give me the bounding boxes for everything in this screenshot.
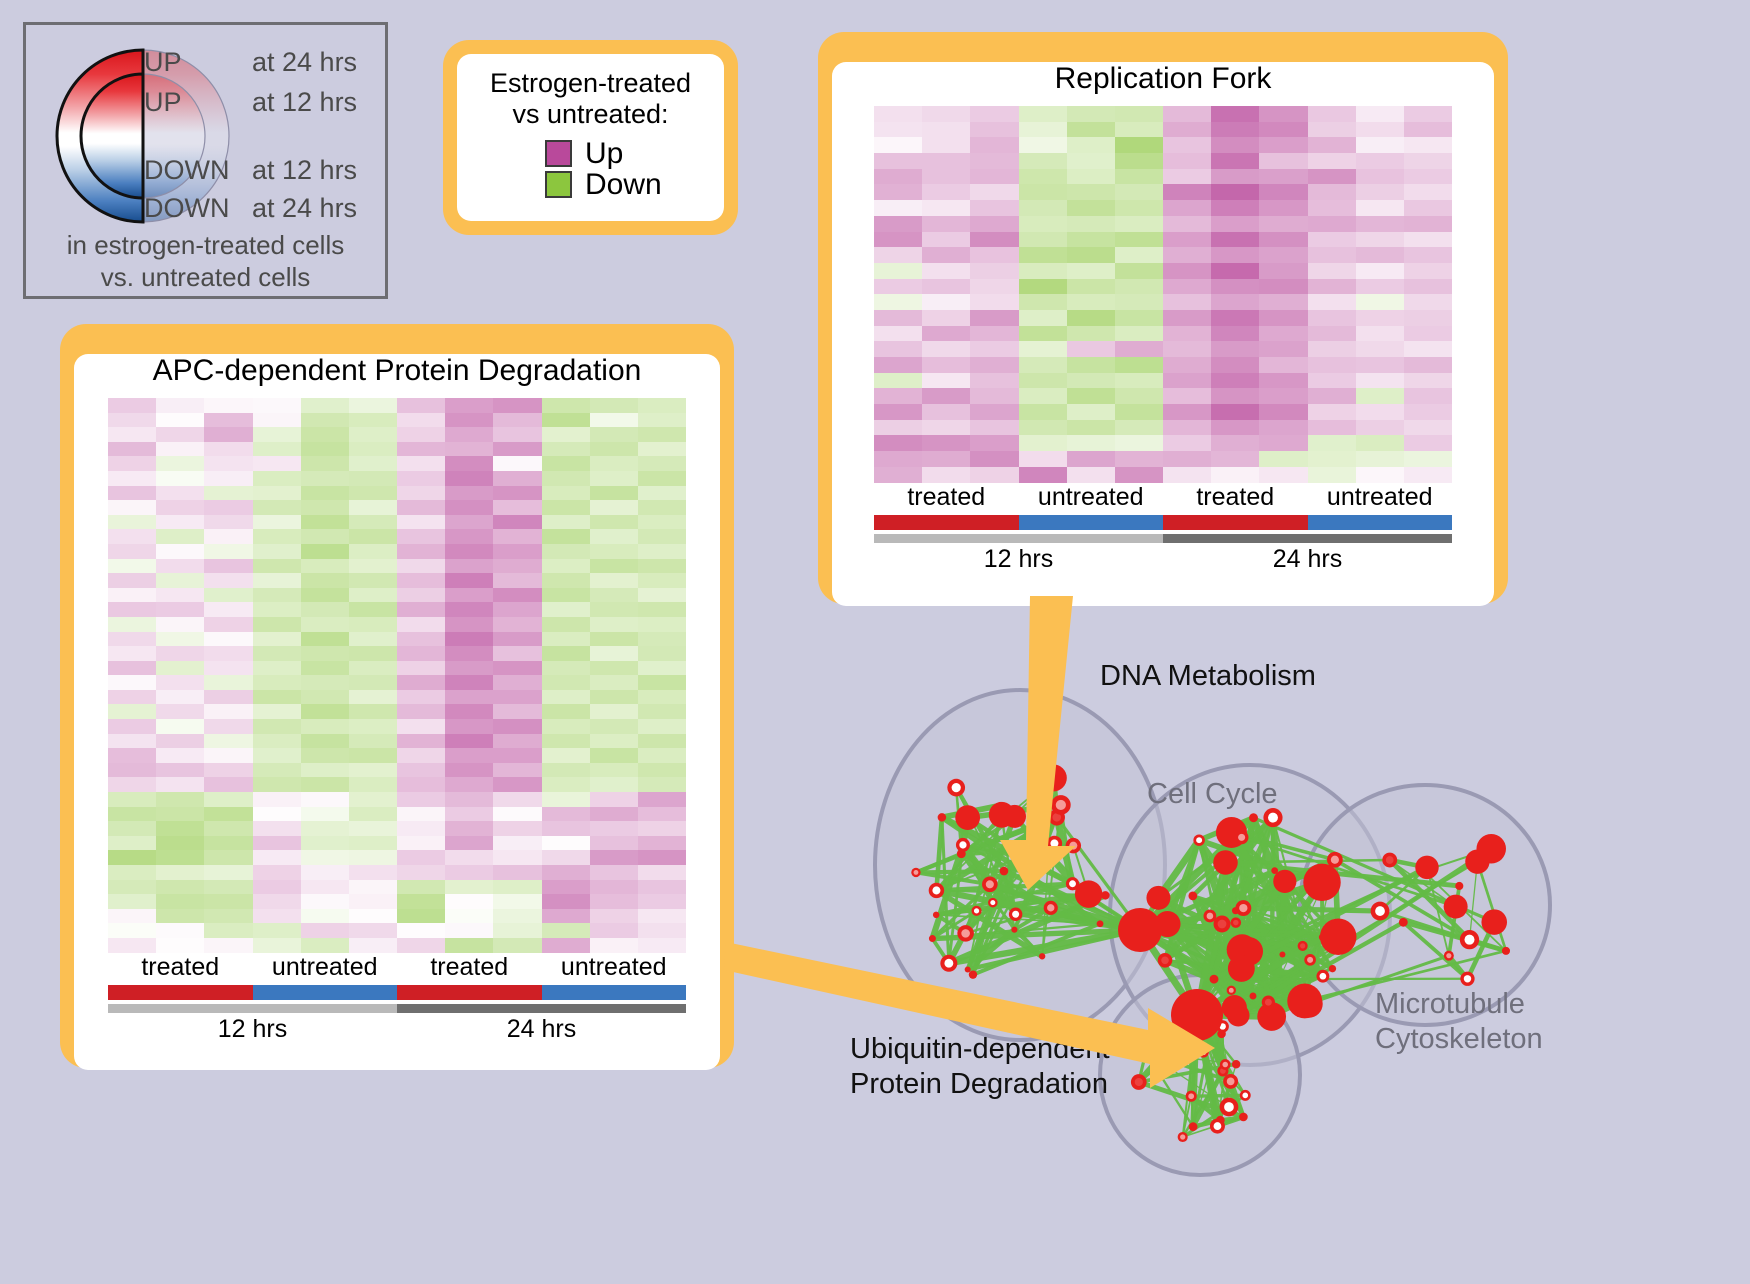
heatmap-cell (1163, 388, 1211, 404)
heatmap-cell (590, 413, 638, 428)
heatmap-cell (493, 442, 541, 457)
heatmap-cell (108, 894, 156, 909)
heatmap-cell (638, 938, 686, 953)
heatmap-cell (590, 894, 638, 909)
cluster-label-ubq-line2: Protein Degradation (850, 1067, 1110, 1102)
heatmap-cell (590, 704, 638, 719)
heatmap-cell (108, 865, 156, 880)
heatmap-cell (108, 398, 156, 413)
heatmap-cell (1356, 467, 1404, 483)
heatmap-cell (204, 573, 252, 588)
heatmap-cell (1259, 404, 1307, 420)
heatmap-cell (156, 442, 204, 457)
condition-labels: treated untreated treated untreated (874, 483, 1452, 512)
network-node (1222, 995, 1247, 1020)
heatmap-cell (445, 427, 493, 442)
condition-bar-seg-1 (1019, 515, 1164, 530)
heatmap-cell (349, 923, 397, 938)
heatmap-cell (874, 200, 922, 216)
heatmap-cell (590, 632, 638, 647)
heatmap-cell (204, 632, 252, 647)
heatmap-cell (1308, 294, 1356, 310)
key-label-up: Up (585, 139, 623, 169)
heatmap-cell (874, 357, 922, 373)
network-svg (795, 615, 1750, 1279)
heatmap-cell (108, 427, 156, 442)
heatmap-cell (301, 807, 349, 822)
heatmap-cell (1115, 435, 1163, 451)
heatmap-cell (1019, 341, 1067, 357)
heatmap-cell (397, 500, 445, 515)
heatmap-cell (1163, 357, 1211, 373)
heatmap-cell (542, 602, 590, 617)
heatmap-cell (493, 573, 541, 588)
heatmap-cell (1115, 341, 1163, 357)
heatmap-cell (542, 442, 590, 457)
heatmap-cell (108, 748, 156, 763)
heatmap-cell (1211, 247, 1259, 263)
legend-when-down-12: at 12 hrs (252, 155, 357, 186)
heatmap-cell (493, 661, 541, 676)
heatmap-cell (1356, 169, 1404, 185)
heatmap-cell (397, 734, 445, 749)
heatmap-cell (349, 807, 397, 822)
heatmap-cell (108, 486, 156, 501)
heatmap-cell (253, 529, 301, 544)
heatmap-cell (204, 661, 252, 676)
heatmap-cell (638, 734, 686, 749)
heatmap-cell (253, 413, 301, 428)
heatmap-cell (874, 184, 922, 200)
heatmap-cell (1356, 216, 1404, 232)
heatmap-cell (590, 923, 638, 938)
heatmap-cell (1404, 137, 1452, 153)
network-node (1279, 951, 1285, 957)
network-node (1481, 909, 1507, 935)
heatmap-cell (970, 373, 1018, 389)
condition-bar-seg-2 (397, 985, 542, 1000)
heatmap-cell (1211, 184, 1259, 200)
heatmap-cell (397, 486, 445, 501)
heatmap-cell (301, 588, 349, 603)
heatmap-cell (301, 909, 349, 924)
network-node-core (1214, 1122, 1222, 1130)
heatmap-cell (493, 923, 541, 938)
heatmap-cell (874, 451, 922, 467)
heatmap-cell (1259, 435, 1307, 451)
heatmap-cell (493, 704, 541, 719)
heatmap-cell (874, 435, 922, 451)
heatmap-cell (1163, 404, 1211, 420)
heatmap-cell (1211, 216, 1259, 232)
heatmap-cell (204, 938, 252, 953)
network-node-core (1268, 813, 1278, 823)
heatmap-cell (542, 748, 590, 763)
heatmap-cell (638, 398, 686, 413)
network-node-core (961, 929, 970, 938)
heatmap-cell (542, 544, 590, 559)
heatmap-cell (253, 821, 301, 836)
heatmap-cell (1259, 200, 1307, 216)
key-item-down: Down (545, 170, 714, 200)
network-node (965, 966, 971, 972)
heatmap-cell (253, 646, 301, 661)
network-node-core (1229, 988, 1234, 993)
heatmap-cell (253, 836, 301, 851)
heatmap-cell (638, 588, 686, 603)
replication-fork-title: Replication Fork (832, 62, 1494, 96)
heatmap-cell (1163, 247, 1211, 263)
condition-label-1: untreated (253, 953, 398, 982)
heatmap-cell (1404, 247, 1452, 263)
legend-key-down-12: DOWN (144, 155, 229, 186)
heatmap-cell (349, 544, 397, 559)
heatmap-cell (204, 704, 252, 719)
heatmap-cell (349, 471, 397, 486)
heatmap-cell (493, 588, 541, 603)
heatmap-cell (638, 719, 686, 734)
heatmap-cell (874, 247, 922, 263)
heatmap-cell (445, 675, 493, 690)
heatmap-cell (493, 734, 541, 749)
heatmap-cell (874, 326, 922, 342)
heatmap-cell (156, 573, 204, 588)
heatmap-cell (638, 471, 686, 486)
heatmap-cell (970, 169, 1018, 185)
heatmap-cell (253, 777, 301, 792)
heatmap-cell (349, 617, 397, 632)
heatmap-cell (253, 792, 301, 807)
heatmap-cell (108, 675, 156, 690)
heatmap-cell (108, 690, 156, 705)
heatmap-cell (204, 763, 252, 778)
heatmap-cell (156, 807, 204, 822)
heatmap-cell (542, 719, 590, 734)
heatmap-cell (397, 763, 445, 778)
heatmap-cell (638, 763, 686, 778)
legend-caption-line2: vs. untreated cells (26, 262, 385, 294)
heatmap-cell (874, 310, 922, 326)
heatmap-cell (970, 263, 1018, 279)
heatmap-cell (493, 413, 541, 428)
heatmap-cell (156, 602, 204, 617)
heatmap-cell (493, 821, 541, 836)
heatmap-cell (1163, 279, 1211, 295)
heatmap-cell (445, 734, 493, 749)
heatmap-cell (253, 734, 301, 749)
heatmap-cell (1067, 404, 1115, 420)
heatmap-cell (590, 602, 638, 617)
heatmap-cell (1067, 294, 1115, 310)
heatmap-cell (301, 850, 349, 865)
heatmap-cell (445, 748, 493, 763)
heatmap-cell (445, 588, 493, 603)
heatmap-cell (349, 690, 397, 705)
heatmap-cell (1259, 247, 1307, 263)
heatmap-cell (301, 573, 349, 588)
heatmap-cell (156, 529, 204, 544)
network-node-core (1386, 856, 1394, 864)
heatmap-cell (204, 792, 252, 807)
heatmap-cell (1356, 373, 1404, 389)
heatmap-cell (1259, 326, 1307, 342)
heatmap-cell (349, 938, 397, 953)
heatmap-cell (349, 456, 397, 471)
condition-bar-seg-1 (253, 985, 398, 1000)
heatmap-cell (1356, 357, 1404, 373)
heatmap-cell (253, 704, 301, 719)
heatmap-cell (445, 573, 493, 588)
heatmap-cell (445, 807, 493, 822)
heatmap-cell (922, 169, 970, 185)
heatmap-cell (204, 486, 252, 501)
heatmap-cell (301, 456, 349, 471)
heatmap-cell (445, 661, 493, 676)
heatmap-cell (1115, 373, 1163, 389)
heatmap-cell (874, 216, 922, 232)
heatmap-cell (1115, 200, 1163, 216)
network-node (1476, 834, 1506, 864)
network-node (1039, 953, 1045, 959)
heatmap-cell (156, 748, 204, 763)
heatmap-cell (493, 529, 541, 544)
heatmap-cell (397, 632, 445, 647)
heatmap-cell (108, 559, 156, 574)
heatmap-cell (874, 404, 922, 420)
heatmap-cell (1404, 373, 1452, 389)
heatmap-cell (349, 515, 397, 530)
heatmap-cell (301, 792, 349, 807)
heatmap-cell (1356, 232, 1404, 248)
condition-bar-seg-3 (542, 985, 687, 1000)
heatmap-cell (1404, 200, 1452, 216)
heatmap-cell (1211, 200, 1259, 216)
heatmap-cell (108, 719, 156, 734)
heatmap-cell (970, 467, 1018, 483)
network-node-core (1161, 957, 1169, 965)
heatmap-cell (301, 734, 349, 749)
heatmap-cell (1211, 310, 1259, 326)
heatmap-cell (1163, 153, 1211, 169)
heatmap-cell (638, 529, 686, 544)
heatmap-cell (445, 442, 493, 457)
heatmap-cell (108, 529, 156, 544)
heatmap-cell (1163, 106, 1211, 122)
heatmap-cell (301, 748, 349, 763)
timepoint-bar-seg-1 (1163, 534, 1452, 543)
network-node-core (952, 783, 961, 792)
legend-key-down-24: DOWN (144, 193, 229, 224)
heatmap-cell (590, 748, 638, 763)
heatmap-cell (156, 515, 204, 530)
heatmap-cell (590, 792, 638, 807)
heatmap-cell (349, 646, 397, 661)
heatmap-cell (1308, 106, 1356, 122)
cluster-label-dna-metabolism: DNA Metabolism (1100, 660, 1316, 693)
heatmap-cell (1019, 357, 1067, 373)
apc-panel-title: APC-dependent Protein Degradation (74, 354, 720, 388)
heatmap-cell (156, 865, 204, 880)
heatmap-cell (204, 500, 252, 515)
heatmap-cell (397, 821, 445, 836)
heatmap-cell (493, 617, 541, 632)
heatmap-cell (542, 792, 590, 807)
heatmap-cell (638, 923, 686, 938)
heatmap-cell (1163, 184, 1211, 200)
heatmap-cell (1067, 122, 1115, 138)
heatmap-cell (590, 500, 638, 515)
condition-bar-seg-2 (1163, 515, 1308, 530)
heatmap-cell (397, 646, 445, 661)
heatmap-cell (874, 420, 922, 436)
heatmap-cell (590, 661, 638, 676)
heatmap-cell (874, 467, 922, 483)
heatmap-cell (301, 529, 349, 544)
heatmap-cell (1115, 184, 1163, 200)
heatmap-cell (970, 247, 1018, 263)
legend-caption: in estrogen-treated cells vs. untreated … (26, 230, 385, 293)
heatmap-cell (1067, 263, 1115, 279)
heatmap-cell (874, 263, 922, 279)
heatmap-cell (397, 602, 445, 617)
heatmap-cell (301, 442, 349, 457)
heatmap-cell (156, 704, 204, 719)
heatmap-cell (301, 544, 349, 559)
heatmap-cell (397, 748, 445, 763)
heatmap-cell (204, 909, 252, 924)
heatmap-cell (970, 232, 1018, 248)
heatmap-cell (349, 675, 397, 690)
heatmap-cell (542, 923, 590, 938)
heatmap-cell (1067, 279, 1115, 295)
heatmap-cell (638, 442, 686, 457)
heatmap-cell (397, 398, 445, 413)
heatmap-cell (445, 500, 493, 515)
heatmap-cell (590, 938, 638, 953)
heatmap-cell (397, 894, 445, 909)
heatmap-cell (1259, 373, 1307, 389)
network-node-core (1196, 837, 1202, 843)
heatmap-cell (1404, 153, 1452, 169)
heatmap-cell (1308, 451, 1356, 467)
heatmap-cell (253, 894, 301, 909)
network-node-core (1050, 839, 1058, 847)
heatmap-cell (542, 690, 590, 705)
heatmap-cell (253, 865, 301, 880)
heatmap-cell (397, 777, 445, 792)
heatmap-cell (638, 865, 686, 880)
heatmap-cell (493, 763, 541, 778)
heatmap-cell (493, 486, 541, 501)
heatmap-cell (1308, 216, 1356, 232)
heatmap-cell (397, 792, 445, 807)
heatmap-cell (1404, 232, 1452, 248)
legend-when-up-24: at 24 hrs (252, 47, 357, 78)
network-node (938, 813, 947, 822)
heatmap-cell (638, 500, 686, 515)
heatmap-cell (1404, 169, 1452, 185)
apc-degradation-panel: APC-dependent Protein Degradation treate… (60, 324, 734, 1068)
heatmap-cell (1404, 467, 1452, 483)
heatmap-cell (1067, 153, 1115, 169)
heatmap-cell (156, 456, 204, 471)
heatmap-cell (156, 734, 204, 749)
heatmap-cell (253, 544, 301, 559)
heatmap-cell (1404, 388, 1452, 404)
heatmap-cell (590, 515, 638, 530)
heatmap-cell (253, 486, 301, 501)
heatmap-cell (1067, 420, 1115, 436)
heatmap-cell (204, 748, 252, 763)
heatmap-cell (493, 456, 541, 471)
heatmap-cell (1019, 137, 1067, 153)
heatmap-cell (204, 923, 252, 938)
heatmap-cell (590, 617, 638, 632)
heatmap-cell (493, 675, 541, 690)
heatmap-cell (1259, 279, 1307, 295)
heatmap-cell (874, 122, 922, 138)
network-node-core (1069, 880, 1076, 887)
heatmap-cell (1259, 310, 1307, 326)
heatmap-cell (1259, 294, 1307, 310)
heatmap-cell (204, 850, 252, 865)
heatmap-cell (493, 427, 541, 442)
heatmap-cell (1067, 467, 1115, 483)
heatmap-cell (1259, 137, 1307, 153)
network-node-core (1233, 920, 1238, 925)
heatmap-cell (542, 529, 590, 544)
heatmap-cell (1163, 216, 1211, 232)
heatmap-cell (397, 456, 445, 471)
heatmap-cell (590, 573, 638, 588)
heatmap-cell (874, 137, 922, 153)
heatmap-cell (253, 661, 301, 676)
heatmap-cell (970, 357, 1018, 373)
heatmap-cell (301, 515, 349, 530)
heatmap-cell (1356, 184, 1404, 200)
network-node (969, 970, 977, 978)
network-node-core (1222, 1062, 1228, 1068)
heatmap-cell (1308, 420, 1356, 436)
heatmap-cell (253, 617, 301, 632)
heatmap-cell (397, 909, 445, 924)
heatmap-cell (590, 398, 638, 413)
heatmap-cell (638, 909, 686, 924)
network-node (1249, 813, 1258, 822)
heatmap-cell (638, 544, 686, 559)
timepoint-label-12: 12 hrs (874, 545, 1163, 574)
heatmap-cell (1211, 263, 1259, 279)
heatmap-cell (1115, 451, 1163, 467)
heatmap-cell (445, 529, 493, 544)
heatmap-cell (253, 880, 301, 895)
heatmap-cell (253, 602, 301, 617)
heatmap-cell (1019, 169, 1067, 185)
heatmap-cell (542, 515, 590, 530)
heatmap-cell (1019, 435, 1067, 451)
heatmap-cell (970, 404, 1018, 420)
heatmap-cell (542, 836, 590, 851)
heatmap-cell (108, 413, 156, 428)
network-node-core (1446, 953, 1451, 958)
heatmap-cell (156, 923, 204, 938)
heatmap-cell (590, 456, 638, 471)
heatmap-cell (253, 807, 301, 822)
heatmap-cell (349, 442, 397, 457)
heatmap-cell (970, 279, 1018, 295)
network-node (1250, 993, 1257, 1000)
network-node-core (1464, 935, 1474, 945)
